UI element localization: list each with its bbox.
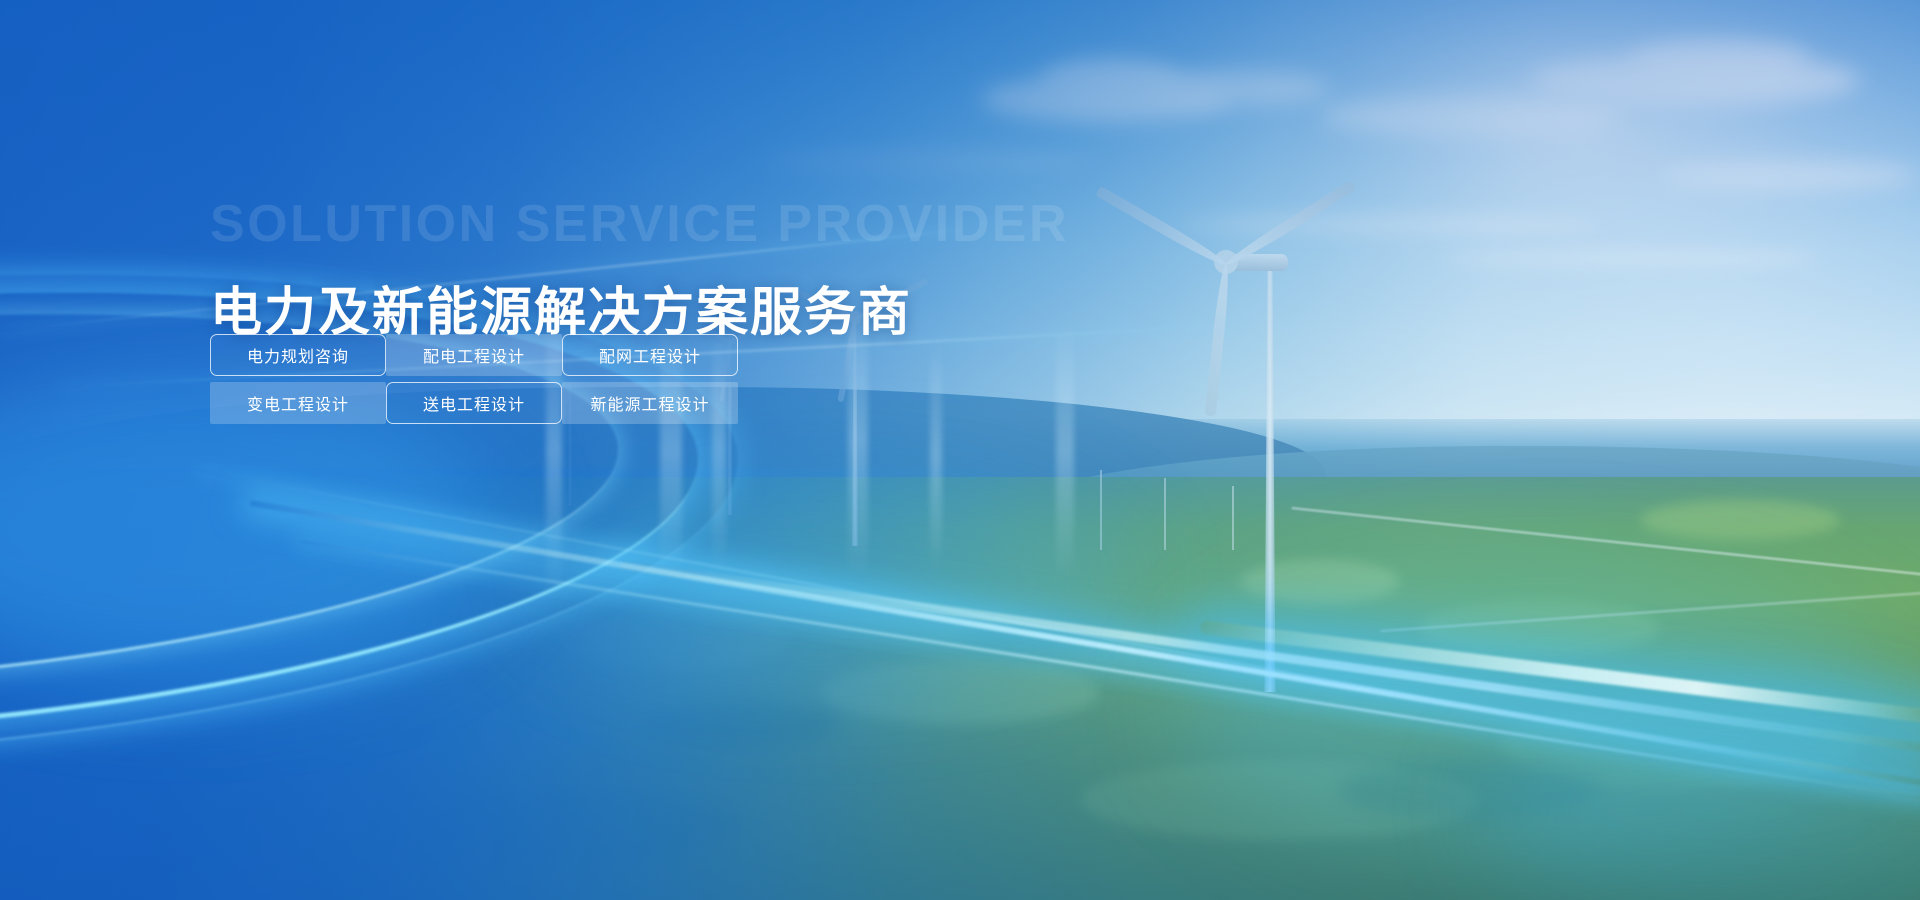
service-button-distribution-engineering[interactable]: 配电工程设计 bbox=[386, 334, 562, 376]
service-button-grid-engineering[interactable]: 配网工程设计 bbox=[562, 334, 738, 376]
service-button-grid: 电力规划咨询 配电工程设计 配网工程设计 变电工程设计 送电工程设计 新能源工程… bbox=[210, 334, 738, 424]
service-button-new-energy-engineering[interactable]: 新能源工程设计 bbox=[562, 382, 738, 424]
service-button-row: 变电工程设计 送电工程设计 新能源工程设计 bbox=[210, 382, 738, 424]
hero-banner: SOLUTION SERVICE PROVIDER 电力及新能源解决方案服务商 … bbox=[0, 0, 1920, 900]
service-button-transmission-engineering[interactable]: 送电工程设计 bbox=[386, 382, 562, 424]
hero-content: SOLUTION SERVICE PROVIDER 电力及新能源解决方案服务商 … bbox=[0, 0, 1920, 900]
service-button-power-planning[interactable]: 电力规划咨询 bbox=[210, 334, 386, 376]
service-button-row: 电力规划咨询 配电工程设计 配网工程设计 bbox=[210, 334, 738, 376]
hero-ghost-title: SOLUTION SERVICE PROVIDER bbox=[210, 194, 1069, 254]
service-button-substation-engineering[interactable]: 变电工程设计 bbox=[210, 382, 386, 424]
